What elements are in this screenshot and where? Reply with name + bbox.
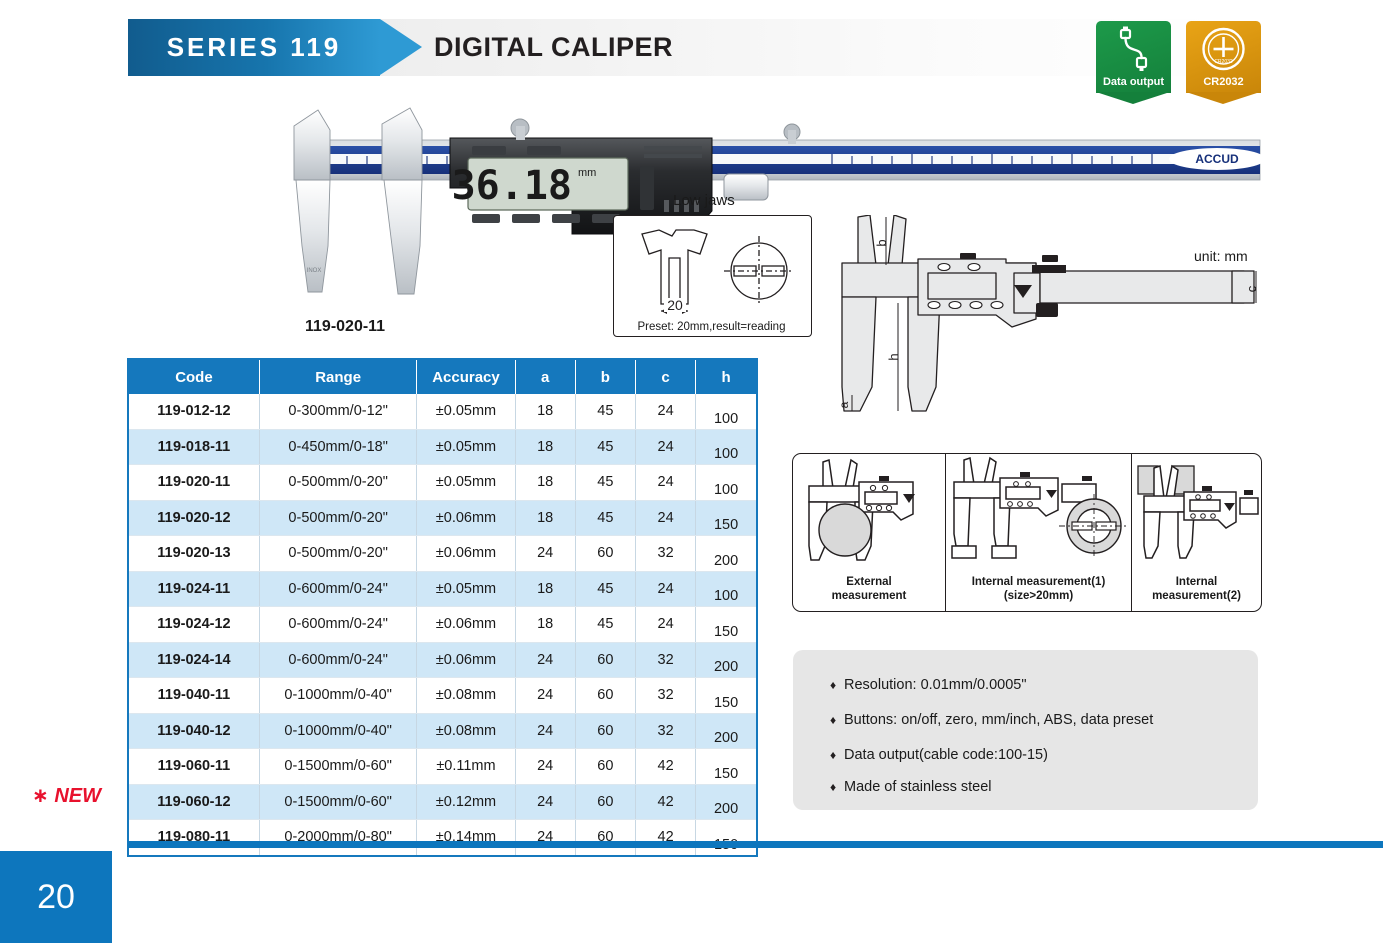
feature-text: Made of stainless steel (844, 779, 992, 795)
cell-range: 0-1000mm/0-40" (259, 678, 417, 714)
table-row: 119-060-120-1500mm/0-60"±0.12mm246042200 (128, 784, 757, 820)
mode-internal-2: Internal measurement(2) (1132, 454, 1261, 611)
cell-range: 0-600mm/0-24" (259, 571, 417, 607)
cell-c: 24 (635, 607, 695, 643)
cell-accuracy: ±0.05mm (417, 465, 515, 501)
cell-h: 100 (696, 571, 757, 607)
cell-a: 24 (515, 820, 575, 856)
features-box: ♦ Resolution: 0.01mm/0.0005" ♦ Buttons: … (793, 650, 1258, 810)
cell-range: 0-1500mm/0-60" (259, 749, 417, 785)
specification-table: Code Range Accuracy a b c h 119-012-120-… (127, 358, 758, 857)
cell-range: 0-2000mm/0-80" (259, 820, 417, 856)
cell-c: 24 (635, 571, 695, 607)
cell-a: 18 (515, 394, 575, 429)
lcd-value: 36.18 (452, 163, 572, 209)
cell-accuracy: ±0.06mm (417, 642, 515, 678)
cell-code: 119-060-12 (128, 784, 259, 820)
cell-b: 60 (575, 820, 635, 856)
cell-h: 200 (696, 536, 757, 572)
cell-c: 32 (635, 536, 695, 572)
cell-b: 45 (575, 465, 635, 501)
cell-h: 100 (696, 465, 757, 501)
cell-a: 18 (515, 465, 575, 501)
cell-c: 24 (635, 394, 695, 429)
page-number-block: 20 (0, 851, 112, 943)
cell-h: 150 (696, 500, 757, 536)
cell-h: 150 (696, 607, 757, 643)
page-title: DIGITAL CALIPER (434, 19, 673, 76)
series-label: SERIES 119 (128, 19, 380, 76)
column-header-c: c (635, 359, 695, 394)
cell-b: 45 (575, 429, 635, 465)
cell-code: 119-020-12 (128, 500, 259, 536)
cell-code: 119-080-11 (128, 820, 259, 856)
badge-data-output-label: Data output (1096, 76, 1171, 88)
technical-drawing: b h a c (836, 215, 1266, 415)
feature-item-resolution: ♦ Resolution: 0.01mm/0.0005" (830, 677, 1026, 693)
cell-a: 24 (515, 678, 575, 714)
cell-accuracy: ±0.05mm (417, 571, 515, 607)
cell-accuracy: ±0.06mm (417, 607, 515, 643)
cell-c: 32 (635, 642, 695, 678)
table-row: 119-060-110-1500mm/0-60"±0.11mm246042150 (128, 749, 757, 785)
cell-accuracy: ±0.14mm (417, 820, 515, 856)
cell-range: 0-1000mm/0-40" (259, 713, 417, 749)
cell-c: 42 (635, 784, 695, 820)
mode-internal-2-caption: Internal measurement(2) (1132, 575, 1261, 603)
coin-cell-icon: CR2032 (1186, 25, 1261, 73)
cell-code: 119-012-12 (128, 394, 259, 429)
cell-range: 0-600mm/0-24" (259, 642, 417, 678)
brand-mark: ACCUD (1195, 152, 1239, 166)
cell-code: 119-018-11 (128, 429, 259, 465)
table-row: 119-018-110-450mm/0-18"±0.05mm184524100 (128, 429, 757, 465)
low-jaws-title: Low jaws (673, 192, 735, 209)
cell-b: 60 (575, 784, 635, 820)
table-row: 119-024-110-600mm/0-24"±0.05mm184524100 (128, 571, 757, 607)
dimension-label-b: b (874, 239, 889, 246)
cell-a: 18 (515, 607, 575, 643)
mode-internal-1-caption: Internal measurement(1) (size>20mm) (946, 575, 1131, 603)
series-arrow-icon (380, 19, 422, 75)
table-header-row: Code Range Accuracy a b c h (128, 359, 757, 394)
badge-data-output: Data output (1096, 21, 1171, 93)
cell-a: 18 (515, 571, 575, 607)
cell-code: 119-060-11 (128, 749, 259, 785)
cell-range: 0-450mm/0-18" (259, 429, 417, 465)
column-header-code: Code (128, 359, 259, 394)
cell-a: 24 (515, 536, 575, 572)
cell-a: 24 (515, 713, 575, 749)
feature-item-buttons: ♦ Buttons: on/off, zero, mm/inch, ABS, d… (830, 712, 1153, 728)
cell-range: 0-500mm/0-20" (259, 465, 417, 501)
cell-h: 150 (696, 820, 757, 856)
cell-c: 24 (635, 500, 695, 536)
cell-code: 119-040-11 (128, 678, 259, 714)
cell-range: 0-600mm/0-24" (259, 607, 417, 643)
cell-b: 60 (575, 536, 635, 572)
cell-b: 60 (575, 713, 635, 749)
cell-h: 150 (696, 678, 757, 714)
external-measurement-icon (793, 454, 945, 569)
cell-accuracy: ±0.08mm (417, 678, 515, 714)
cell-h: 150 (696, 749, 757, 785)
mode-internal-1: Internal measurement(1) (size>20mm) (946, 454, 1131, 611)
svg-text:CR2032: CR2032 (1214, 59, 1233, 65)
internal-measurement-2-icon (1132, 454, 1261, 569)
cell-h: 200 (696, 642, 757, 678)
cell-c: 42 (635, 749, 695, 785)
table-row: 119-020-110-500mm/0-20"±0.05mm184524100 (128, 465, 757, 501)
cell-code: 119-024-14 (128, 642, 259, 678)
unit-label: unit: mm (1194, 248, 1248, 264)
page-number: 20 (0, 851, 112, 943)
column-header-h: h (696, 359, 757, 394)
low-jaws-dimension: 20 (667, 297, 683, 313)
measurement-modes-box: External measurement (792, 453, 1262, 612)
table-row: 119-080-110-2000mm/0-80"±0.14mm246042150 (128, 820, 757, 856)
cell-a: 18 (515, 500, 575, 536)
cell-c: 32 (635, 713, 695, 749)
cell-accuracy: ±0.05mm (417, 394, 515, 429)
column-header-a: a (515, 359, 575, 394)
cell-b: 45 (575, 571, 635, 607)
table-row: 119-012-120-300mm/0-12"±0.05mm184524100 (128, 394, 757, 429)
lcd-unit: mm (578, 167, 596, 179)
bullet-icon: ♦ (830, 678, 844, 692)
cell-code: 119-020-13 (128, 536, 259, 572)
bullet-icon: ♦ (830, 780, 844, 794)
feature-text: Resolution: 0.01mm/0.0005" (844, 677, 1026, 693)
cell-range: 0-500mm/0-20" (259, 500, 417, 536)
cell-c: 32 (635, 678, 695, 714)
product-code-label: 119-020-11 (305, 318, 385, 336)
cell-b: 60 (575, 749, 635, 785)
badge-battery-label: CR2032 (1186, 76, 1261, 88)
table-row: 119-020-130-500mm/0-20"±0.06mm246032200 (128, 536, 757, 572)
table-row: 119-024-120-600mm/0-24"±0.06mm184524150 (128, 607, 757, 643)
cell-accuracy: ±0.08mm (417, 713, 515, 749)
cell-h: 100 (696, 394, 757, 429)
cell-h: 100 (696, 429, 757, 465)
low-jaws-diagram: 20 (614, 216, 811, 336)
cell-a: 24 (515, 784, 575, 820)
svg-text:INOX: INOX (307, 268, 322, 274)
cell-a: 24 (515, 749, 575, 785)
cell-b: 45 (575, 607, 635, 643)
dimension-label-c: c (1244, 285, 1259, 292)
low-jaws-box: 20 (613, 215, 812, 337)
column-header-accuracy: Accuracy (417, 359, 515, 394)
bullet-icon: ♦ (830, 713, 844, 727)
cell-code: 119-040-12 (128, 713, 259, 749)
cell-b: 60 (575, 678, 635, 714)
cell-accuracy: ±0.06mm (417, 500, 515, 536)
cell-range: 0-500mm/0-20" (259, 536, 417, 572)
table-row: 119-020-120-500mm/0-20"±0.06mm184524150 (128, 500, 757, 536)
table-row: 119-024-140-600mm/0-24"±0.06mm246032200 (128, 642, 757, 678)
column-header-range: Range (259, 359, 417, 394)
badge-battery: CR2032 CR2032 (1186, 21, 1261, 93)
internal-measurement-1-icon (946, 454, 1131, 569)
feature-item-material: ♦ Made of stainless steel (830, 779, 992, 795)
cell-h: 200 (696, 713, 757, 749)
cell-range: 0-1500mm/0-60" (259, 784, 417, 820)
cell-h: 200 (696, 784, 757, 820)
footer-rule (128, 841, 1383, 848)
table-row: 119-040-110-1000mm/0-40"±0.08mm246032150 (128, 678, 757, 714)
cell-range: 0-300mm/0-12" (259, 394, 417, 429)
cell-c: 24 (635, 465, 695, 501)
dimension-label-a: a (837, 401, 851, 408)
cell-code: 119-020-11 (128, 465, 259, 501)
cell-accuracy: ±0.05mm (417, 429, 515, 465)
cell-b: 60 (575, 642, 635, 678)
cell-code: 119-024-11 (128, 571, 259, 607)
dimension-label-h: h (886, 353, 901, 360)
cell-a: 18 (515, 429, 575, 465)
cell-accuracy: ±0.11mm (417, 749, 515, 785)
bullet-icon: ♦ (830, 748, 844, 762)
mode-external: External measurement (793, 454, 945, 611)
low-jaws-caption: Preset: 20mm,result=reading (613, 321, 810, 333)
feature-text: Data output(cable code:100-15) (844, 747, 1048, 763)
feature-text: Buttons: on/off, zero, mm/inch, ABS, dat… (844, 712, 1153, 728)
cell-a: 24 (515, 642, 575, 678)
feature-item-data-output: ♦ Data output(cable code:100-15) (830, 747, 1048, 763)
mode-external-caption: External measurement (793, 575, 945, 603)
cell-accuracy: ±0.12mm (417, 784, 515, 820)
usb-cable-icon (1096, 25, 1171, 73)
cell-code: 119-024-12 (128, 607, 259, 643)
cell-c: 24 (635, 429, 695, 465)
new-flag: ∗ NEW (32, 783, 101, 808)
table-row: 119-040-120-1000mm/0-40"±0.08mm246032200 (128, 713, 757, 749)
cell-b: 45 (575, 394, 635, 429)
cell-c: 42 (635, 820, 695, 856)
column-header-b: b (575, 359, 635, 394)
cell-accuracy: ±0.06mm (417, 536, 515, 572)
cell-b: 45 (575, 500, 635, 536)
